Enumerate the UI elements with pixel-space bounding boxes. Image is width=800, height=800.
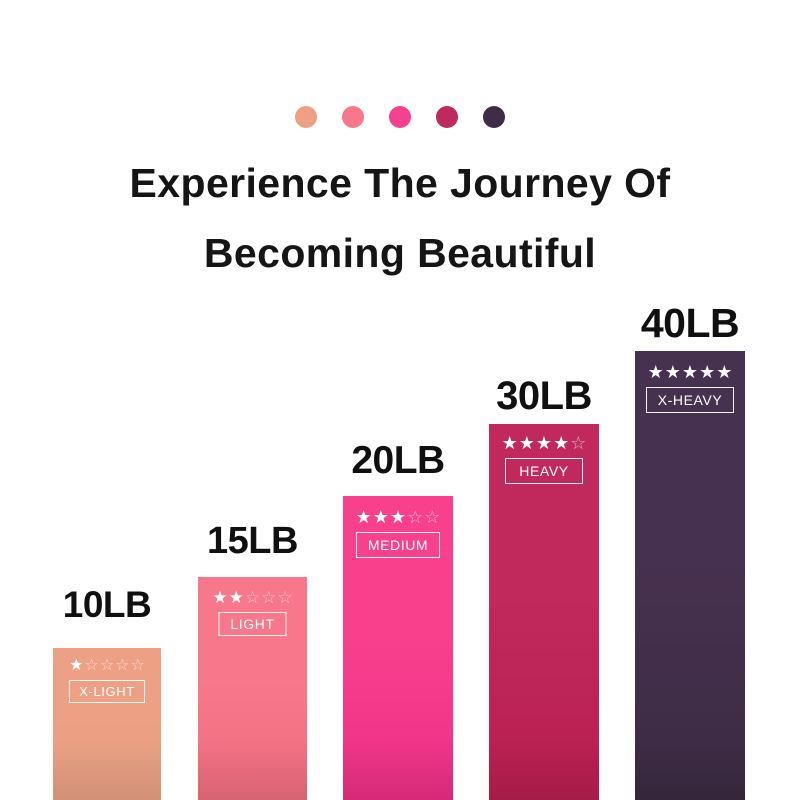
star-filled-icon: ★ [229,589,244,606]
bar-40lb-level-chip: X-HEAVY [646,387,735,413]
star-filled-icon: ★ [553,434,569,452]
bar-40lb-star-rating: ★★★★★ [648,363,733,381]
bar-40lb[interactable]: ★★★★★X-HEAVY40LB [635,351,745,800]
bar-15lb-bottom-shade [198,738,307,800]
bar-30lb-star-rating: ★★★★☆ [502,434,587,452]
bar-10lb-badge: ★☆☆☆☆X-LIGHT [53,658,161,703]
star-empty-icon: ☆ [245,589,260,606]
star-filled-icon: ★ [390,508,406,526]
bar-20lb-badge: ★★★☆☆MEDIUM [343,508,453,558]
bar-10lb-level-chip: X-LIGHT [69,680,144,703]
bar-40lb-badge: ★★★★★X-HEAVY [635,363,745,413]
star-empty-icon: ☆ [115,658,129,674]
bar-10lb-bottom-shade [53,738,161,800]
bar-40lb-bottom-shade [635,738,745,800]
bar-15lb-level-chip: LIGHT [218,612,286,636]
star-filled-icon: ★ [69,658,83,674]
bar-30lb-level-chip: HEAVY [505,458,582,484]
bar-20lb[interactable]: ★★★☆☆MEDIUM20LB [343,496,453,800]
star-empty-icon: ☆ [261,589,276,606]
bar-30lb-badge: ★★★★☆HEAVY [489,434,599,484]
bar-20lb-bottom-shade [343,738,453,800]
star-empty-icon: ☆ [407,508,423,526]
star-filled-icon: ★ [648,363,664,381]
bar-20lb-weight-label: 20LB [351,441,444,480]
bar-15lb[interactable]: ★★☆☆☆LIGHT15LB [198,577,307,800]
star-filled-icon: ★ [665,363,681,381]
star-filled-icon: ★ [212,589,227,606]
star-empty-icon: ☆ [84,658,98,674]
star-empty-icon: ☆ [277,589,292,606]
star-filled-icon: ★ [699,363,715,381]
bar-20lb-star-rating: ★★★☆☆ [356,508,441,526]
resistance-level-bar-chart: ★☆☆☆☆X-LIGHT10LB★★☆☆☆LIGHT15LB★★★☆☆MEDIU… [0,0,800,800]
star-filled-icon: ★ [682,363,698,381]
bar-30lb[interactable]: ★★★★☆HEAVY30LB [489,424,599,800]
star-empty-icon: ☆ [100,658,114,674]
bar-15lb-weight-label: 15LB [207,522,298,560]
bar-30lb-bottom-shade [489,738,599,800]
bar-20lb-level-chip: MEDIUM [356,532,440,558]
star-filled-icon: ★ [373,508,389,526]
bar-10lb-star-rating: ★☆☆☆☆ [69,658,145,674]
star-empty-icon: ☆ [570,434,586,452]
bar-10lb-weight-label: 10LB [63,586,151,623]
star-filled-icon: ★ [356,508,372,526]
bar-10lb[interactable]: ★☆☆☆☆X-LIGHT10LB [53,648,161,800]
star-empty-icon: ☆ [131,658,145,674]
star-empty-icon: ☆ [424,508,440,526]
bar-40lb-column [635,351,745,800]
star-filled-icon: ★ [536,434,552,452]
star-filled-icon: ★ [519,434,535,452]
star-filled-icon: ★ [502,434,518,452]
infographic-canvas: Experience The Journey Of Becoming Beaut… [0,0,800,800]
bar-15lb-star-rating: ★★☆☆☆ [212,589,292,606]
bar-40lb-weight-label: 40LB [641,303,739,344]
bar-30lb-weight-label: 30LB [496,376,592,416]
bar-15lb-badge: ★★☆☆☆LIGHT [198,589,307,636]
star-filled-icon: ★ [716,363,732,381]
